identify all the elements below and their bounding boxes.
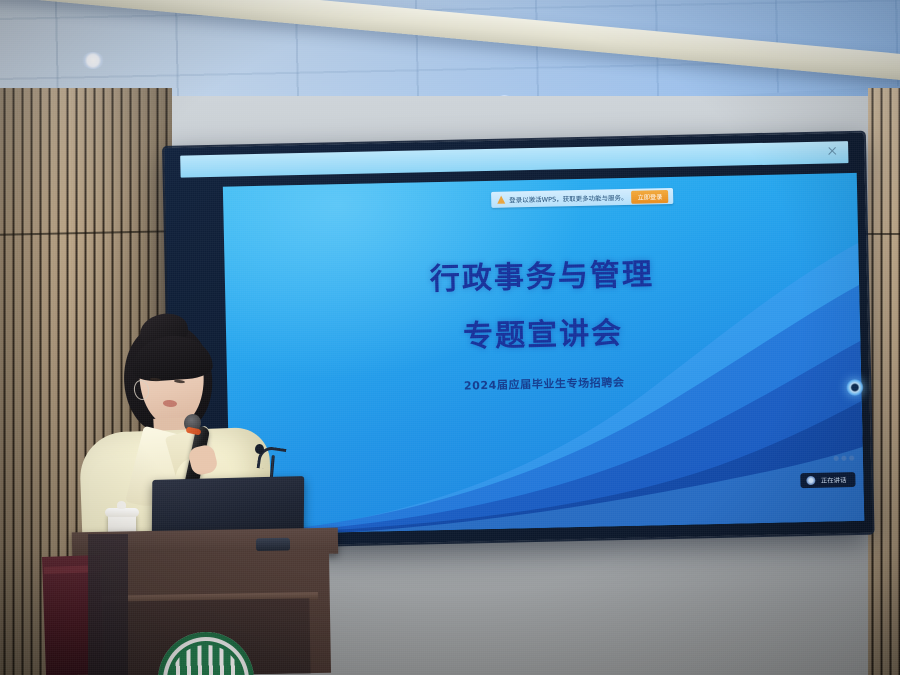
tea-cup-lid [105, 508, 139, 517]
wood-slat-wall-right [868, 88, 900, 675]
status-badge[interactable]: 正在讲话 [801, 472, 856, 488]
display-top-strip [180, 141, 848, 178]
login-now-button[interactable]: 立即登录 [631, 190, 668, 204]
photo-scene: 登录以激活WPS，获取更多功能与服务。 立即登录 行政事务与管理 专题宣讲会 2… [0, 0, 900, 675]
presenter-view-icon [807, 476, 816, 485]
downlight-icon [82, 52, 104, 69]
status-badge-label: 正在讲话 [821, 475, 847, 485]
presentation-slide: 登录以激活WPS，获取更多功能与服务。 立即登录 行政事务与管理 专题宣讲会 2… [223, 173, 864, 535]
close-icon[interactable] [826, 145, 838, 157]
ir-sensor-dots-icon [831, 455, 857, 462]
wall-seam [866, 233, 900, 235]
dark-side-panel [88, 534, 128, 675]
tea-cup-knob [117, 501, 126, 509]
gooseneck-microphone-capsule [255, 444, 264, 454]
notification-message: 登录以激活WPS，获取更多功能与服务。 [509, 192, 628, 204]
warning-triangle-icon [497, 196, 505, 204]
gooseneck-microphone-base [256, 538, 290, 552]
